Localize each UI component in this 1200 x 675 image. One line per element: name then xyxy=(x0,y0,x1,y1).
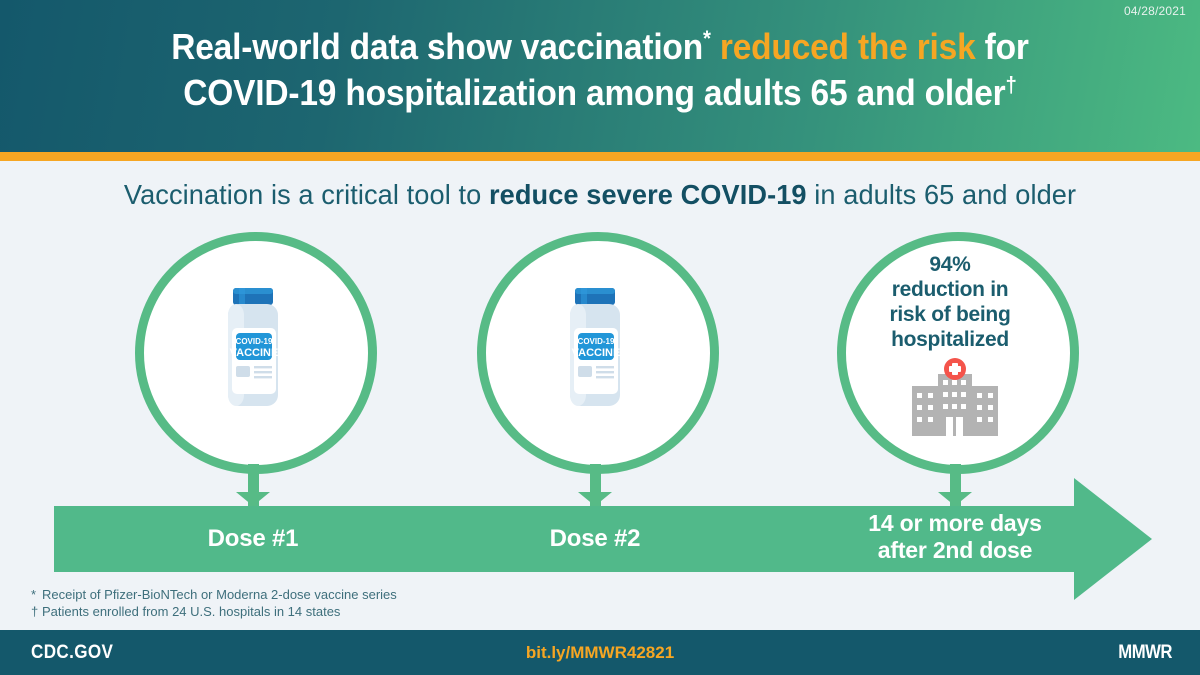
title-highlight: reduced the risk xyxy=(720,26,976,67)
stat-line-3: risk of being xyxy=(890,303,1011,326)
stat-value: 94% xyxy=(929,253,970,276)
footnote-1: *Receipt of Pfizer-BioNTech or Moderna 2… xyxy=(31,586,397,603)
footnote-1-marker: * xyxy=(31,586,42,603)
stat-line-2: reduction in xyxy=(892,278,1009,301)
svg-text:VACCINE: VACCINE xyxy=(230,347,279,359)
bar-label-dose-1: Dose #1 xyxy=(153,526,353,552)
title-line-1: Real-world data show vaccination* reduce… xyxy=(171,26,1028,67)
footnotes: *Receipt of Pfizer-BioNTech or Moderna 2… xyxy=(31,586,397,620)
header-banner: 04/28/2021 Real-world data show vaccinat… xyxy=(0,0,1200,152)
title-text-a: Real-world data show vaccination xyxy=(171,26,703,67)
mmwr-logo: MMWR xyxy=(1118,642,1172,664)
footnote-2-marker: † xyxy=(31,603,42,620)
connector-notch-dose-2 xyxy=(578,492,612,506)
subtitle: Vaccination is a critical tool to reduce… xyxy=(18,178,1182,212)
svg-text:COVID-19: COVID-19 xyxy=(236,337,273,346)
connector-notch-dose-1 xyxy=(236,492,270,506)
title-asterisk-marker: * xyxy=(703,26,711,51)
short-link[interactable]: bit.ly/MMWR42821 xyxy=(0,643,1200,663)
hospital-icon xyxy=(908,358,1002,436)
stat-text: 94% reduction in risk of being hospitali… xyxy=(855,252,1045,352)
subtitle-bold: reduce severe COVID-19 xyxy=(489,179,807,210)
title-text-b: for xyxy=(985,26,1029,67)
subtitle-before: Vaccination is a critical tool to xyxy=(124,179,489,210)
footnote-2: †Patients enrolled from 24 U.S. hospital… xyxy=(31,603,397,620)
infographic-page: 04/28/2021 Real-world data show vaccinat… xyxy=(0,0,1200,675)
title-dagger-marker: † xyxy=(1006,72,1017,97)
footnote-1-text: Receipt of Pfizer-BioNTech or Moderna 2-… xyxy=(42,587,397,602)
vaccine-vial-icon: COVID-19 VACCINE xyxy=(214,288,292,406)
footer-bar: CDC.GOV bit.ly/MMWR42821 MMWR xyxy=(0,630,1200,675)
stat-line-4: hospitalized xyxy=(891,328,1009,351)
vaccine-vial-icon: COVID-19 VACCINE xyxy=(556,288,634,406)
publication-date: 04/28/2021 xyxy=(1124,4,1186,18)
orange-divider-bar xyxy=(0,152,1200,161)
connector-notch-after-2nd-dose xyxy=(938,492,972,506)
timeline-arrow-head xyxy=(1074,478,1152,600)
title-line-2-text: COVID-19 hospitalization among adults 65… xyxy=(183,72,1005,113)
svg-text:VACCINE: VACCINE xyxy=(572,347,621,359)
bar-label-after-2nd-dose: 14 or more days after 2nd dose xyxy=(843,510,1067,564)
bar-label-dose-2: Dose #2 xyxy=(495,526,695,552)
page-title: Real-world data show vaccination* reduce… xyxy=(42,24,1158,116)
bar-label-line-2: after 2nd dose xyxy=(878,537,1032,563)
subtitle-after: in adults 65 and older xyxy=(807,179,1077,210)
svg-text:COVID-19: COVID-19 xyxy=(578,337,615,346)
title-line-2: COVID-19 hospitalization among adults 65… xyxy=(183,72,1016,113)
bar-label-line-1: 14 or more days xyxy=(868,510,1041,536)
footnote-2-text: Patients enrolled from 24 U.S. hospitals… xyxy=(42,604,340,619)
